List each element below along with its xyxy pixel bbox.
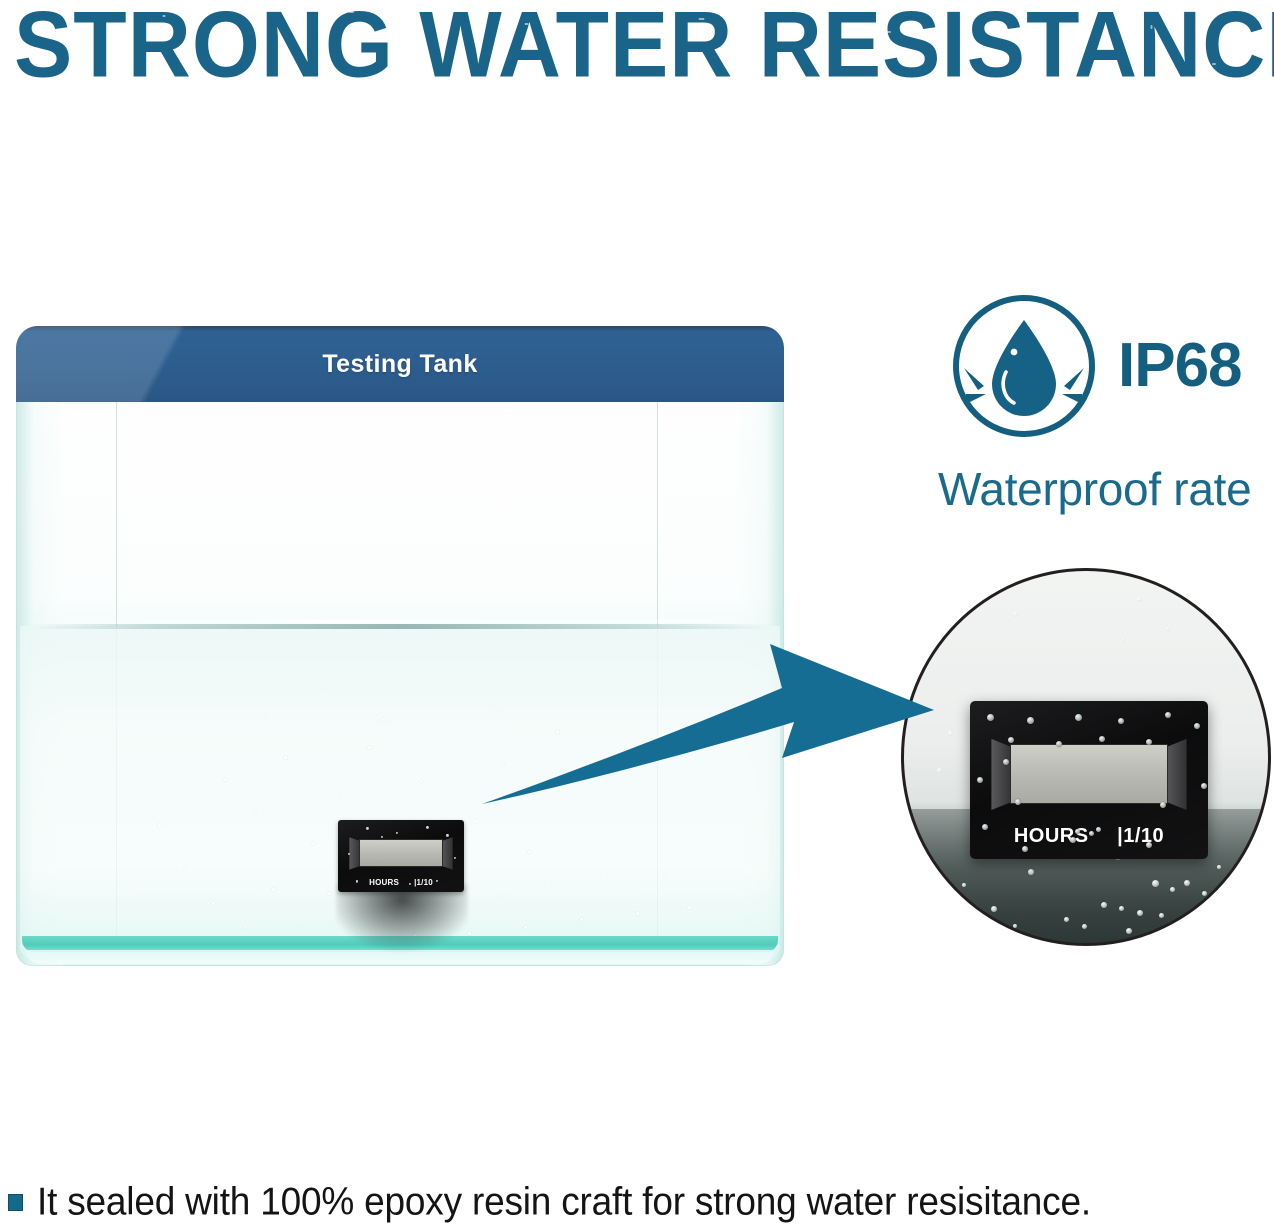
- splash-left-upper: [964, 368, 984, 390]
- meter-body-magnified: HOURS |1/10: [970, 701, 1208, 859]
- meter-scale-label: |1/10: [414, 878, 433, 887]
- meter-body: HOURS |1/10: [338, 820, 464, 892]
- pointer-arrow: [452, 622, 952, 842]
- tank-label: Testing Tank: [16, 326, 784, 402]
- meter-bezel-right: [441, 837, 452, 869]
- splash-left-lower: [966, 394, 986, 404]
- meter-hours-label: HOURS: [369, 878, 399, 887]
- ip68-badge: IP68: [948, 286, 1274, 446]
- page-title: STRONG WATER RESISTANCE IP68: [14, 0, 1274, 92]
- device-shadow: [336, 884, 468, 970]
- hour-meter-device-magnified: HOURS |1/10: [970, 701, 1208, 859]
- meter-label-row-magnified: HOURS |1/10: [970, 825, 1208, 848]
- tank-back-panel-reflection: [112, 406, 664, 628]
- caption-row: It sealed with 100% epoxy resin craft fo…: [8, 1178, 1274, 1226]
- meter-scale-label-magnified: |1/10: [1117, 825, 1164, 848]
- ip-rating-label: IP68: [1118, 335, 1242, 397]
- waterproof-rate-label: Waterproof rate: [938, 462, 1274, 516]
- water-droplet-icon: [992, 320, 1056, 416]
- splash-right-lower: [1062, 394, 1082, 404]
- arrow-shape: [482, 644, 934, 804]
- meter-lcd-display: [359, 839, 442, 866]
- caption-text: It sealed with 100% epoxy resin craft fo…: [37, 1181, 1091, 1223]
- meter-lcd-display-magnified: [1010, 744, 1167, 804]
- waterproof-icon-circle: [948, 290, 1100, 442]
- hour-meter-device: HOURS |1/10: [338, 820, 464, 892]
- headline-banner: STRONG WATER RESISTANCE IP68: [14, 0, 1264, 94]
- droplet-highlight-dot: [1011, 349, 1018, 356]
- magnified-detail-inset: HOURS |1/10: [901, 568, 1271, 946]
- meter-bezel-right-magnified: [1165, 739, 1186, 810]
- caption-bullet-icon: [8, 1194, 23, 1211]
- splash-right-upper: [1064, 368, 1084, 390]
